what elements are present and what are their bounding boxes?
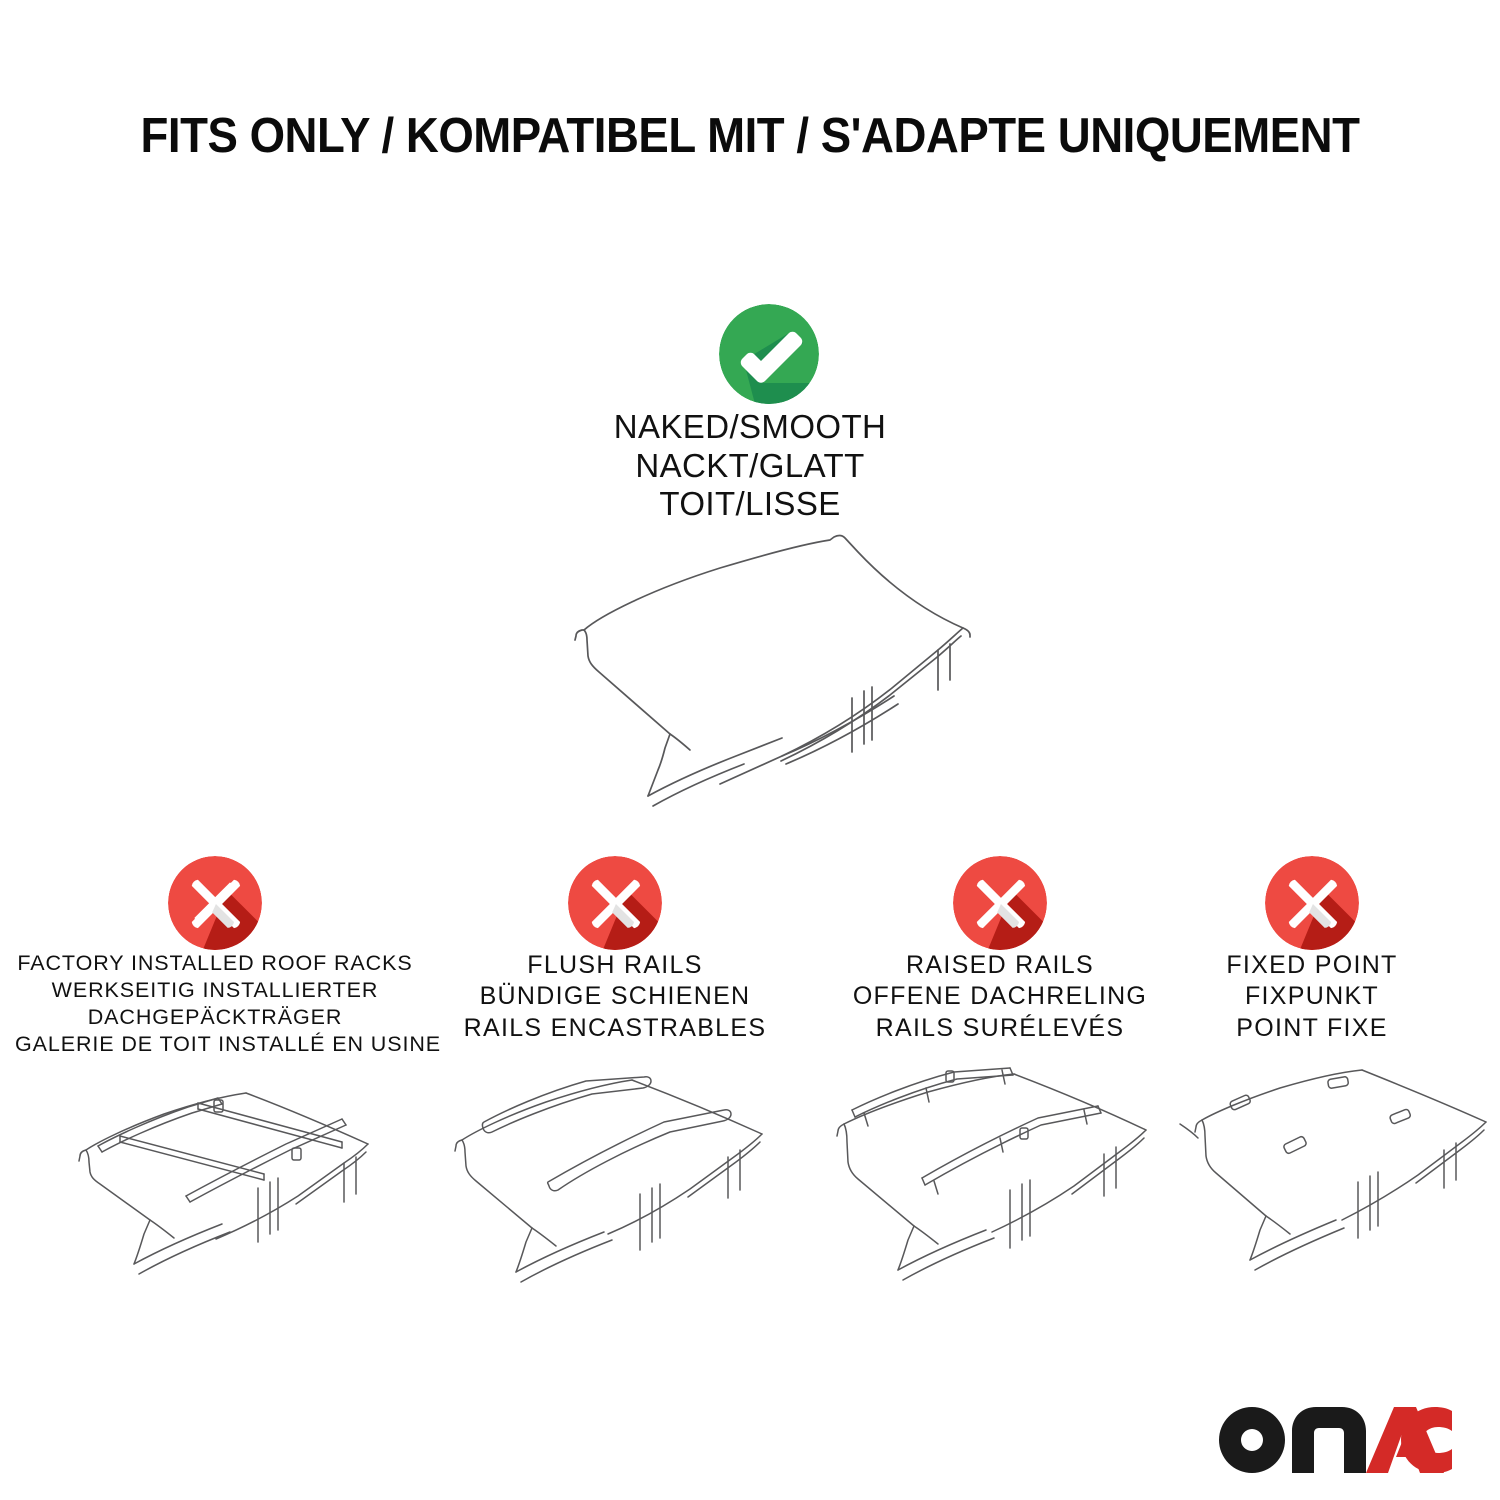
cross-circle-icon [1265,856,1359,950]
fixed-point-illustration [1186,1062,1500,1282]
caption-line: FACTORY INSTALLED ROOF RACKS [15,950,415,977]
fit-caption-line-1: NAKED/SMOOTH [450,408,1050,447]
fit-caption-line-3: TOIT/LISSE [450,485,1050,524]
caption-line: FIXED POINT [1162,950,1462,981]
caption-line: FLUSH RAILS [425,950,805,981]
caption-line: WERKSEITIG INSTALLIERTER [15,977,415,1004]
nofit-caption-raised-rails: RAISED RAILS OFFENE DACHRELING RAILS SUR… [810,950,1190,1044]
logo-letter-o [1219,1407,1285,1473]
cross-circle-icon [568,856,662,950]
caption-line: RAILS ENCASTRABLES [425,1013,805,1044]
fit-caption: NAKED/SMOOTH NACKT/GLATT TOIT/LISSE [450,408,1050,524]
caption-line: BÜNDIGE SCHIENEN [425,981,805,1012]
cross-circle-icon [168,856,262,950]
flush-rails-illustration [440,1062,810,1282]
page-title: FITS ONLY / KOMPATIBEL MIT / S'ADAPTE UN… [53,108,1448,164]
omac-logo [1216,1402,1452,1478]
check-circle-icon [719,304,819,404]
fit-caption-line-2: NACKT/GLATT [450,447,1050,486]
nofit-caption-fixed-point: FIXED POINT FIXPUNKT POINT FIXE [1162,950,1462,1044]
smooth-roof-illustration [520,520,1020,810]
cross-circle-icon [953,856,1047,950]
caption-line: RAILS SURÉLEVÉS [810,1013,1190,1044]
caption-line: RAISED RAILS [810,950,1190,981]
caption-line: OFFENE DACHRELING [810,981,1190,1012]
caption-line: DACHGEPÄCKTRÄGER [15,1004,415,1031]
caption-line: GALERIE DE TOIT INSTALLÉ EN USINE [15,1031,415,1058]
nofit-caption-flush-rails: FLUSH RAILS BÜNDIGE SCHIENEN RAILS ENCAS… [425,950,805,1044]
factory-roof-rack-illustration [46,1062,416,1282]
caption-line: FIXPUNKT [1162,981,1462,1012]
nofit-caption-factory-roof-racks: FACTORY INSTALLED ROOF RACKS WERKSEITIG … [15,950,415,1058]
logo-letter-m [1292,1407,1366,1473]
raised-rails-illustration [828,1062,1198,1282]
caption-line: POINT FIXE [1162,1013,1462,1044]
